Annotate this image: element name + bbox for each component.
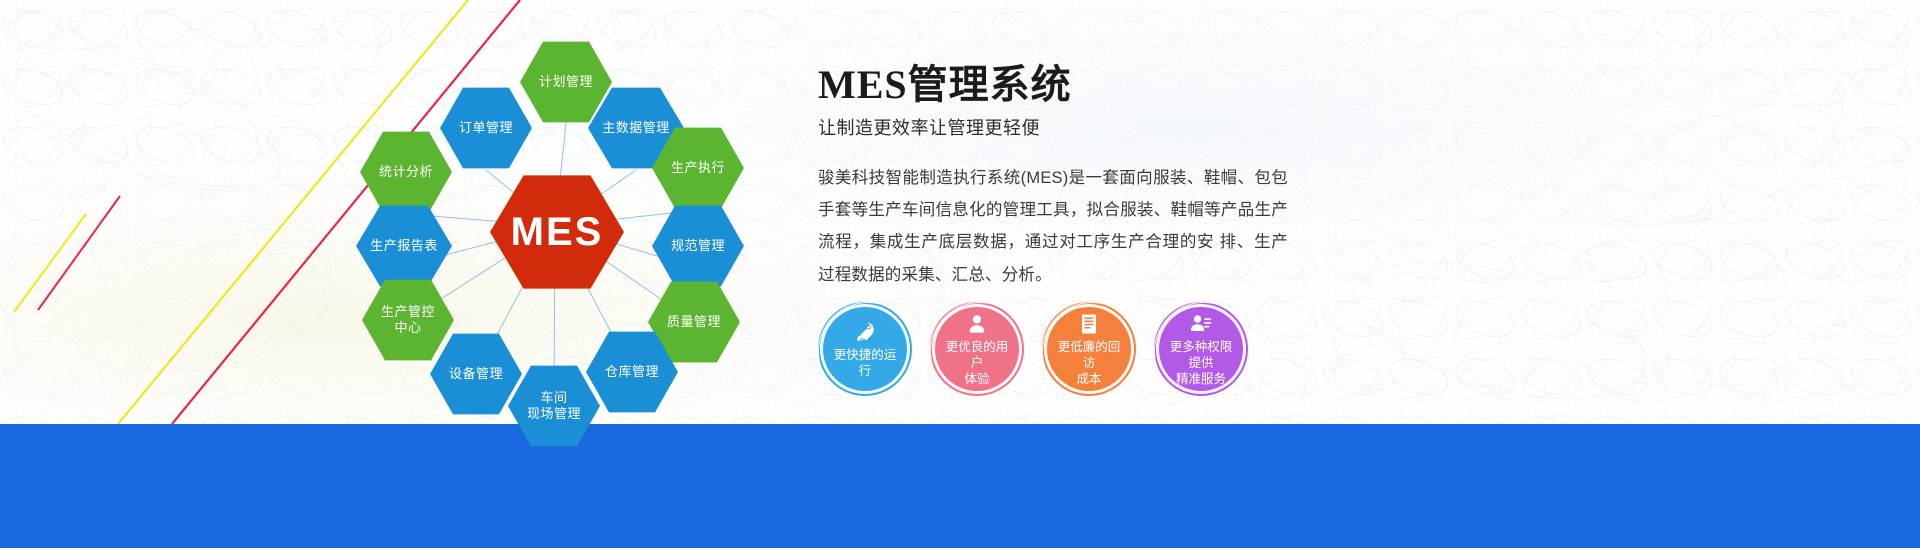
hex-node-label: 规范管理: [671, 238, 725, 254]
feature-badge[interactable]: 更快捷的运行: [820, 304, 910, 394]
feature-badge[interactable]: 更低廉的回访 成本: [1044, 304, 1134, 394]
page-title: MES管理系统: [818, 62, 1288, 108]
hex-core-label: MES: [511, 207, 604, 257]
badge-outer-ring: [1154, 302, 1254, 402]
hex-node-label: 主数据管理: [602, 120, 670, 136]
banner-copy-column: MES管理系统 让制造更效率让管理更轻便 骏美科技智能制造执行系统(MES)是一…: [818, 62, 1288, 291]
hex-node-label: 仓库管理: [605, 364, 659, 380]
hex-node-label: 计划管理: [539, 74, 593, 90]
badge-outer-ring: [1042, 302, 1142, 402]
mes-banner: 计划管理订单管理主数据管理统计分析生产执行生产报告表规范管理生产管控 中心质量管…: [0, 0, 1920, 550]
hex-node-label: 生产执行: [671, 160, 725, 176]
mes-hexagon-diagram: 计划管理订单管理主数据管理统计分析生产执行生产报告表规范管理生产管控 中心质量管…: [330, 18, 780, 428]
hex-node-label: 车间 现场管理: [527, 390, 581, 423]
banner-description: 骏美科技智能制造执行系统(MES)是一套面向服装、鞋帽、包包手套等生产车间信息化…: [818, 162, 1288, 291]
feature-badge[interactable]: 更多种权限提供 精准服务: [1156, 304, 1246, 394]
feature-badge-group: 更快捷的运行更优良的用户 体验更低廉的回访 成本更多种权限提供 精准服务: [820, 300, 1260, 400]
badge-outer-ring: [818, 302, 918, 402]
hex-node-label: 生产管控 中心: [381, 304, 435, 337]
page-subtitle: 让制造更效率让管理更轻便: [818, 114, 1288, 140]
hex-node-label: 订单管理: [459, 120, 513, 136]
hex-node-label: 设备管理: [449, 366, 503, 382]
hex-node-label: 质量管理: [667, 314, 721, 330]
hex-node-label: 统计分析: [379, 164, 433, 180]
hex-node-label: 生产报告表: [370, 238, 438, 254]
badge-outer-ring: [930, 302, 1030, 402]
feature-badge[interactable]: 更优良的用户 体验: [932, 304, 1022, 394]
background-bottom-band: [0, 424, 1920, 550]
